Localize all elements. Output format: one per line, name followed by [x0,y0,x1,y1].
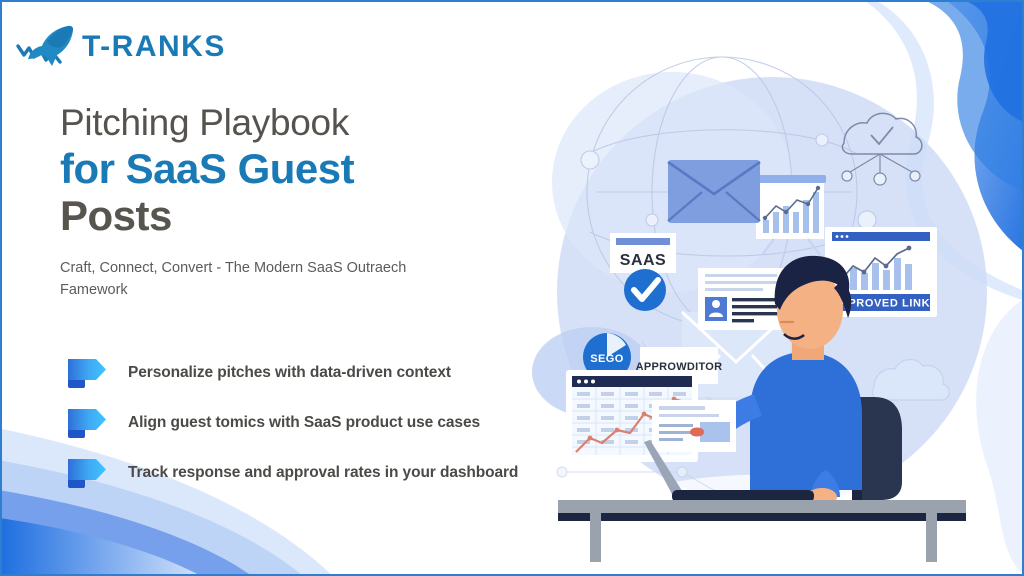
headline-block: Pitching Playbook for SaaS Guest Posts [60,102,540,240]
arrow-flag-icon [66,356,114,390]
brand-logo[interactable]: T-RANKS [16,20,226,74]
list-item: Align guest tomics with SaaS product use… [66,400,566,446]
verified-check-badge [624,269,666,311]
saas-badge: SAAS [610,233,676,273]
sego-badge-label: SEGO [590,353,623,365]
bullet-list: Personalize pitches with data-driven con… [66,350,566,500]
list-item: Track response and approval rates in you… [66,450,566,496]
subtitle-text: Craft, Connect, Convert - The Modern Saa… [60,257,450,302]
brand-wordmark: T-RANKS [82,32,226,62]
arrow-flag-icon [66,406,114,440]
headline-line-2: for SaaS Guest [60,145,540,192]
list-item-label: Personalize pitches with data-driven con… [128,364,451,382]
headline-line-1: Pitching Playbook [60,102,540,143]
list-item: Personalize pitches with data-driven con… [66,350,566,396]
arrow-flag-icon [66,456,114,490]
headline-line-3: Posts [60,192,540,239]
saas-badge-label: SAAS [620,252,666,269]
poster-canvas: T-RANKS Pitching Playbook for SaaS Guest… [0,0,1024,576]
rocket-chart-icon [16,22,78,72]
held-document-card [652,400,736,452]
hero-illustration: APPROVED LINK SAAS SEGO [522,42,1022,562]
list-item-label: Align guest tomics with SaaS product use… [128,414,480,432]
envelope-icon [668,160,760,223]
list-item-label: Track response and approval rates in you… [128,464,518,482]
